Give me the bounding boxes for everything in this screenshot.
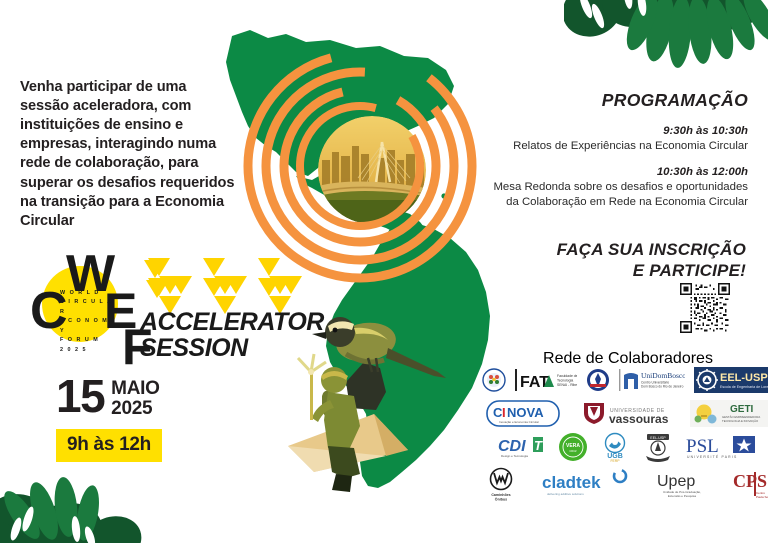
wcef-logo: W C E F W O R L D C I R C U L A R E C O … <box>22 244 312 364</box>
svg-text:TECNOLOGIA E INOVAÇÃO: TECNOLOGIA E INOVAÇÃO <box>722 418 759 423</box>
accelerator-word: ACCELERATOR <box>140 310 324 336</box>
cta-line-2: E PARTICIPE! <box>496 261 746 282</box>
svg-text:EEL-USP: EEL-USP <box>650 436 666 440</box>
svg-text:Faculdade de: Faculdade de <box>557 374 577 378</box>
partner-logo-ugb-ferp: UGB FERP <box>599 432 631 462</box>
svg-text:Inovação e Economia Circular: Inovação e Economia Circular <box>499 420 539 424</box>
partner-logo-row: CDI T Design e Tecnologia VERA CRUZ <box>492 432 768 462</box>
svg-text:cladtek: cladtek <box>542 473 601 492</box>
partner-logo-eel-usp: EEL-USP Escola de Engenharia de Lorena <box>694 367 768 393</box>
partner-logo-senai-seal <box>482 368 506 392</box>
partner-logo-cladtek: cladtek delivering additive solutions <box>541 468 633 502</box>
partner-logo-universidade-de-vassouras: UNIVERSIDADE DE vassouras <box>580 400 670 427</box>
program-slot-description: Mesa Redonda sobre os desafios e oportun… <box>488 180 748 210</box>
lead-paragraph: Venha participar de uma sessão acelerado… <box>20 78 235 231</box>
svg-text:Extensão e Pesquisa: Extensão e Pesquisa <box>668 494 697 498</box>
session-word: SESSION <box>140 336 324 362</box>
svg-text:FAT: FAT <box>520 374 549 391</box>
svg-text:GETI: GETI <box>730 404 754 415</box>
partner-logo-vera-cruz-seal: VERA CRUZ <box>558 432 588 462</box>
partner-logo-row: FAT Faculdade de Tecnologia SENAI - Ribe… <box>492 366 768 394</box>
wcef-mini-line-3: F O R U M <box>60 336 114 345</box>
svg-text:UniDomBosco: UniDomBosco <box>641 371 685 380</box>
svg-text:Paula Souza: Paula Souza <box>756 495 768 499</box>
svg-text:Escola de Engenharia de Lorena: Escola de Engenharia de Lorena <box>720 385 768 389</box>
svg-text:Upep: Upep <box>657 473 695 490</box>
event-day: 15 <box>56 376 104 416</box>
program-slot-time: 9:30h às 10:30h <box>488 125 748 137</box>
svg-text:Caminhões: Caminhões <box>491 493 510 497</box>
partner-logo-cdit: CDI T Design e Tecnologia <box>497 433 547 461</box>
svg-text:Dom Bosco do Rio de Janeiro: Dom Bosco do Rio de Janeiro <box>641 385 684 389</box>
program-slot-time: 10:30h às 12:00h <box>488 166 748 178</box>
partners-title: Rede de Colaboradores <box>543 350 713 367</box>
svg-text:delivering additive solutions: delivering additive solutions <box>547 492 584 496</box>
svg-text:NOVA: NOVA <box>507 405 544 420</box>
svg-text:CPS: CPS <box>733 471 767 491</box>
cta-line-1: FAÇA SUA INSCRIÇÃO <box>496 240 746 261</box>
event-time-badge: 9h às 12h <box>56 429 162 462</box>
partner-logo-cps: CPS Centro Paula Souza <box>731 468 768 502</box>
accelerator-session-title: ACCELERATOR SESSION <box>140 310 324 361</box>
svg-text:UNIVERSITÉ PARIS: UNIVERSITÉ PARIS <box>687 454 737 459</box>
svg-text:Ônibus: Ônibus <box>495 497 507 502</box>
partner-logo-eel-usp-crest: EEL-USP <box>642 432 674 462</box>
partner-logo-row: Caminhões Ônibus cladtek delivering addi… <box>492 467 768 503</box>
svg-text:Design e Tecnologia: Design e Tecnologia <box>501 454 528 458</box>
poster-canvas: Venha participar de uma sessão acelerado… <box>0 0 768 543</box>
partner-logo-unidombosco: UniDomBosco Centro Universitário Dom Bos… <box>619 367 685 393</box>
wcef-mini-line-4: 2 0 2 5 <box>60 346 114 355</box>
svg-text:FERP: FERP <box>610 459 620 462</box>
program-section: PROGRAMAÇÃO 9:30h às 10:30h Relatos de E… <box>488 90 748 222</box>
program-title: PROGRAMAÇÃO <box>488 90 748 111</box>
svg-text:vassouras: vassouras <box>609 412 669 426</box>
partner-logo-row: C I NOVA Inovação e Economia Circular UN… <box>492 399 768 427</box>
svg-text:PSL: PSL <box>686 436 719 457</box>
wcef-mini-line-0: W O R L D <box>60 289 114 298</box>
svg-text:T: T <box>534 438 543 453</box>
registration-cta: FAÇA SUA INSCRIÇÃO E PARTICIPE! <box>496 240 746 281</box>
svg-text:I: I <box>502 405 506 420</box>
svg-text:CDI: CDI <box>498 438 526 455</box>
svg-text:VERA: VERA <box>566 443 580 449</box>
svg-text:Tecnologia: Tecnologia <box>557 379 573 383</box>
partner-logo-volkswagen: Caminhões Ônibus <box>479 467 523 503</box>
event-month: MAIO <box>111 379 159 398</box>
date-block: 15 MAIO 2025 9h às 12h <box>56 376 226 462</box>
wcef-mini-line-2: E C O N O M Y <box>60 317 114 336</box>
svg-text:CRUZ: CRUZ <box>569 449 577 453</box>
svg-text:EEL-USP: EEL-USP <box>720 372 768 384</box>
wcef-mini-line-1: C I R C U L A R <box>60 298 114 317</box>
partner-logo-psl: PSL UNIVERSITÉ PARIS <box>685 433 763 461</box>
partner-logo-cinova: C I NOVA Inovação e Economia Circular <box>486 400 560 427</box>
event-year: 2025 <box>111 398 159 420</box>
partner-logo-upep: Upep Unidade de Pós-Graduação, Extensão … <box>651 468 713 502</box>
program-slot: 9:30h às 10:30h Relatos de Experiências … <box>488 125 748 154</box>
partner-logo-geti: GETI GESTÃO EMPREENDEDORA TECNOLOGIA E I… <box>690 400 768 427</box>
partner-logo-fat: FAT Faculdade de Tecnologia SENAI - Ribe… <box>515 367 577 393</box>
program-slot: 10:30h às 12:00h Mesa Redonda sobre os d… <box>488 166 748 210</box>
partner-logo-uerj-seal <box>586 368 610 392</box>
svg-text:SENAI - Ribeirão: SENAI - Ribeirão <box>557 383 577 387</box>
registration-qr-code[interactable] <box>680 283 730 333</box>
program-slot-description: Relatos de Experiências na Economia Circ… <box>488 139 748 154</box>
wcef-wordmark-lines: W O R L D C I R C U L A R E C O N O M Y … <box>60 289 114 355</box>
partner-logos: FAT Faculdade de Tecnologia SENAI - Ribe… <box>492 366 768 508</box>
